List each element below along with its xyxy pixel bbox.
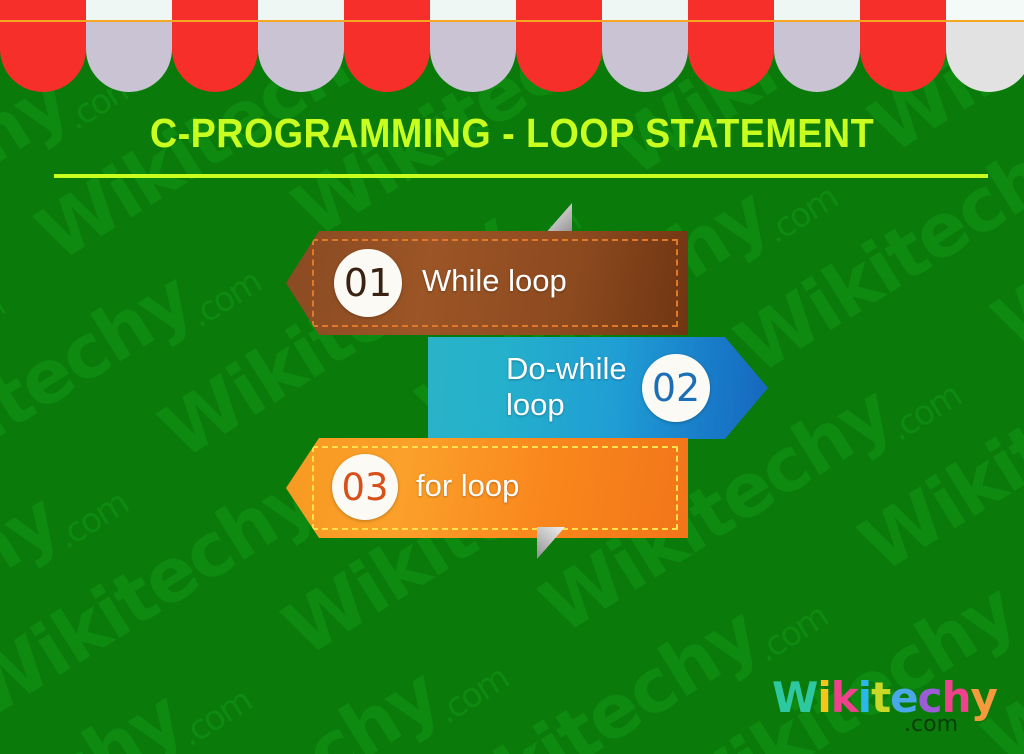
- logo-letter: y: [970, 673, 996, 722]
- logo-letter: W: [772, 673, 817, 722]
- step-number-badge-02: 02: [642, 354, 710, 422]
- step-label-line-2: loop: [506, 387, 627, 423]
- step-number-badge-03: 03: [332, 454, 398, 520]
- loop-statement-diagram: 01 While loop Do-while loop 02 03 for lo…: [0, 0, 1024, 754]
- wikitechy-logo[interactable]: Wikitechy .com: [772, 676, 962, 742]
- diagram-item-for-loop[interactable]: 03 for loop: [286, 438, 688, 538]
- wikitechy-logo-suffix: .com: [904, 712, 958, 737]
- logo-letter: i: [817, 673, 830, 722]
- step-number-badge-01: 01: [334, 249, 402, 317]
- step-label-for-loop: for loop: [416, 468, 519, 504]
- logo-letter: t: [871, 673, 890, 722]
- ribbon-tail-bottom-icon: [537, 527, 565, 559]
- ribbon-tail-top-icon: [544, 203, 572, 235]
- logo-letter: i: [858, 673, 871, 722]
- step-label-line-1: Do-while: [506, 351, 627, 387]
- step-label-do-while-loop: Do-while loop: [506, 351, 627, 423]
- awning-rail-line: [0, 20, 1024, 22]
- logo-letter: k: [831, 673, 858, 722]
- diagram-item-do-while-loop[interactable]: Do-while loop 02: [428, 337, 768, 439]
- diagram-item-while-loop[interactable]: 01 While loop: [286, 231, 688, 335]
- slide-canvas: Wikitechy.com Wikitechy.com Wikitechy.co…: [0, 0, 1024, 754]
- step-label-while-loop: While loop: [422, 263, 567, 299]
